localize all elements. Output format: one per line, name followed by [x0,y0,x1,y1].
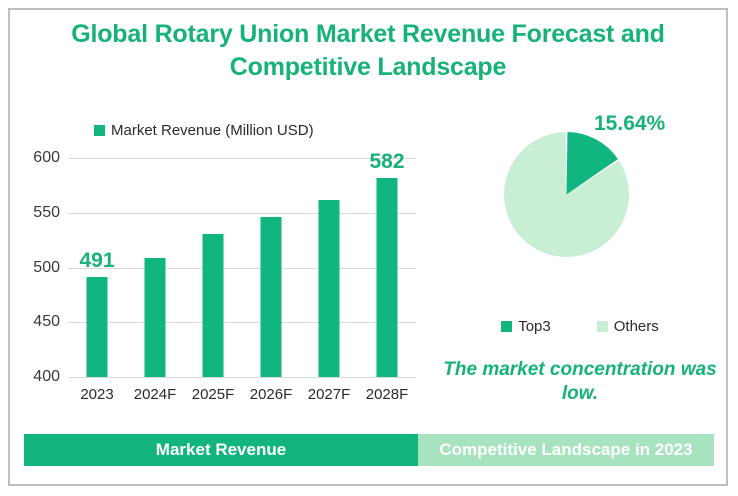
bar[interactable] [261,217,282,377]
bar-legend-label: Market Revenue (Million USD) [111,122,314,139]
bar-group: 2024F [126,158,184,377]
bar-plot-area: 600550500450400 49120232024F2025F2026F20… [68,158,416,377]
pie-legend-label: Others [614,318,659,335]
x-axis-tick-label: 2028F [366,386,409,403]
title-line-1: Global Rotary Union Market Revenue Forec… [10,18,726,51]
bottom-banner: Market Revenue Competitive Landscape in … [24,434,714,466]
bar-group: 4912023 [68,158,126,377]
y-axis-tick-label: 600 [33,149,60,167]
pie-legend-item[interactable]: Others [597,318,659,335]
bars-group: 49120232024F2025F2026F2027F5822028F [68,158,416,377]
bar-group: 5822028F [358,158,416,377]
x-axis-tick-label: 2024F [134,386,177,403]
x-axis-tick-label: 2026F [250,386,293,403]
bar[interactable] [145,258,166,377]
pie-legend-item[interactable]: Top3 [501,318,551,335]
y-axis-tick-label: 450 [33,313,60,331]
pie-chart-legend: Top3Others [434,318,726,335]
y-axis-tick-label: 400 [33,368,60,386]
bar-value-label: 491 [79,249,114,273]
title-line-2: Competitive Landscape [10,51,726,84]
bar[interactable] [377,178,398,377]
bar[interactable] [203,234,224,377]
y-axis-tick-label: 550 [33,204,60,222]
pie-chart [504,132,629,257]
bar[interactable] [319,200,340,377]
x-axis-tick-label: 2023 [80,386,113,403]
pie-legend-label: Top3 [518,318,551,335]
square-marker-icon [501,321,512,332]
pie-svg [504,132,629,257]
infographic-card: Global Rotary Union Market Revenue Forec… [8,8,728,486]
gridline [68,377,416,378]
square-marker-icon [94,125,105,136]
x-axis-tick-label: 2025F [192,386,235,403]
bar-chart-panel: Market Revenue (Million USD) 60055050045… [10,108,434,428]
page-title: Global Rotary Union Market Revenue Forec… [10,18,726,84]
x-axis-tick-label: 2027F [308,386,351,403]
banner-tab-competitive-landscape[interactable]: Competitive Landscape in 2023 [418,434,714,466]
bar-value-label: 582 [369,150,404,174]
bar-group: 2027F [300,158,358,377]
bar-group: 2026F [242,158,300,377]
pie-chart-panel: 15.64% Top3Others The market concentrati… [434,108,726,428]
bar-group: 2025F [184,158,242,377]
banner-tab-market-revenue[interactable]: Market Revenue [24,434,418,466]
square-marker-icon [597,321,608,332]
bar[interactable] [87,277,108,377]
bar-chart-legend: Market Revenue (Million USD) [94,122,314,139]
y-axis-tick-label: 500 [33,259,60,277]
pie-caption: The market concentration was low. [438,358,722,406]
